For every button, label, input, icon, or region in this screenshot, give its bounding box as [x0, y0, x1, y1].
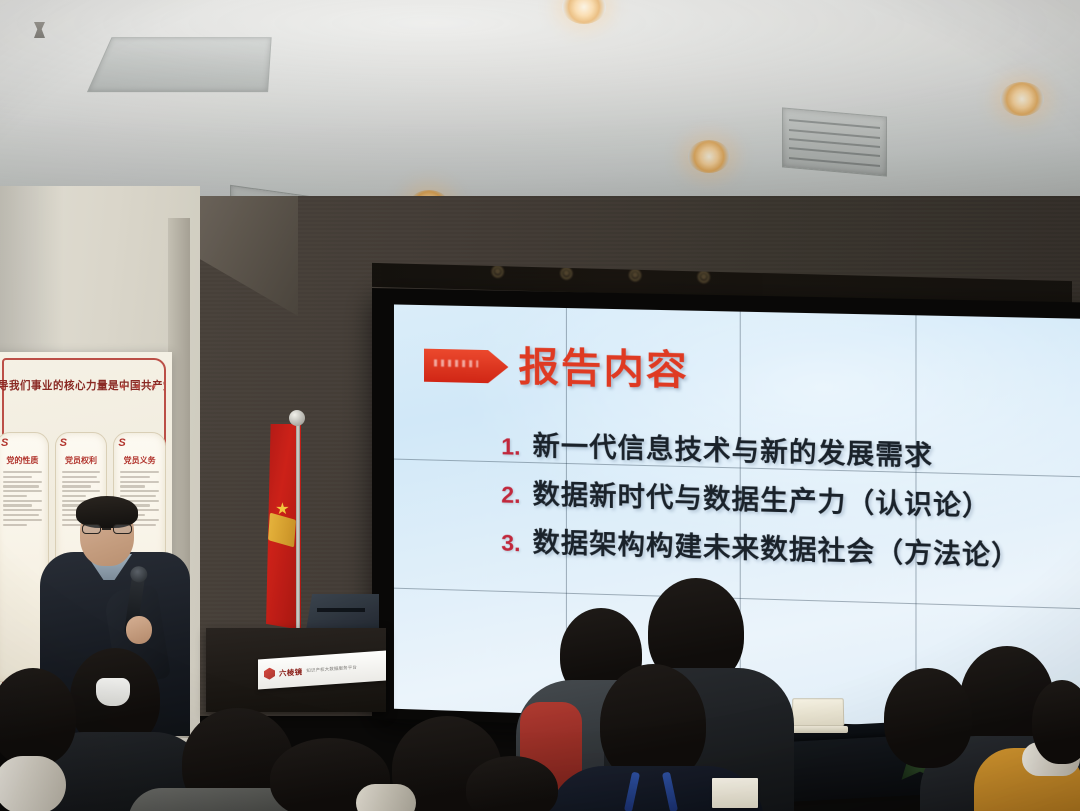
- fur-collar: [0, 756, 66, 811]
- poster-card-heading: 党员义务: [119, 455, 160, 466]
- name-badge-lanyard: [628, 772, 674, 811]
- paper-pad: [712, 778, 758, 808]
- slide-list-item: 1. 新一代信息技术与新的发展需求: [494, 423, 1068, 477]
- poster-card-marker: S: [1, 437, 8, 449]
- sprinkler-icon: [34, 22, 45, 38]
- slide-title-row: 报告内容: [424, 345, 689, 391]
- face-mask: [96, 678, 130, 706]
- poster-stars: ★ ★ ★: [119, 382, 160, 391]
- ceiling-vent-grille-right: [782, 107, 887, 176]
- laptop[interactable]: [788, 698, 848, 732]
- list-item-number: 3.: [494, 529, 520, 557]
- fur-collar: [356, 784, 416, 811]
- audience-group: [0, 560, 1080, 811]
- audience-head: [884, 668, 972, 768]
- ceiling-downlight: [688, 140, 730, 173]
- ceiling-downlight: [1000, 82, 1044, 116]
- poster-card-marker: S: [118, 437, 125, 449]
- slide-list-item: 2. 数据新时代与数据生产力（认识论）: [494, 471, 1068, 526]
- arrow-banner-icon: [424, 347, 508, 385]
- list-item-text: 数据新时代与数据生产力（认识论）: [533, 472, 992, 524]
- ceiling-downlight: [562, 0, 606, 24]
- list-item-number: 1.: [494, 433, 520, 461]
- slide-title: 报告内容: [518, 347, 688, 391]
- poster-card-marker: S: [60, 437, 67, 449]
- laptop-base: [788, 726, 848, 733]
- laptop-lid: [792, 698, 845, 726]
- flag-finial-icon: [289, 410, 305, 426]
- conference-room-photo: 导我们事业的核心力量是中国共产党 ★ ★ ★ S 党的性质 S 党员权利 S 党…: [0, 0, 1080, 811]
- glasses-icon: [82, 524, 132, 534]
- ceiling-vent-square: [87, 37, 272, 92]
- flag-star-icon: [276, 502, 289, 515]
- audience-head: [1032, 680, 1080, 764]
- list-item-text: 新一代信息技术与新的发展需求: [533, 424, 933, 473]
- poster-card-heading: 党的性质: [2, 455, 43, 466]
- list-item-number: 2.: [494, 481, 520, 509]
- poster-card-heading: 党员权利: [61, 455, 102, 466]
- audience-head: [0, 668, 76, 766]
